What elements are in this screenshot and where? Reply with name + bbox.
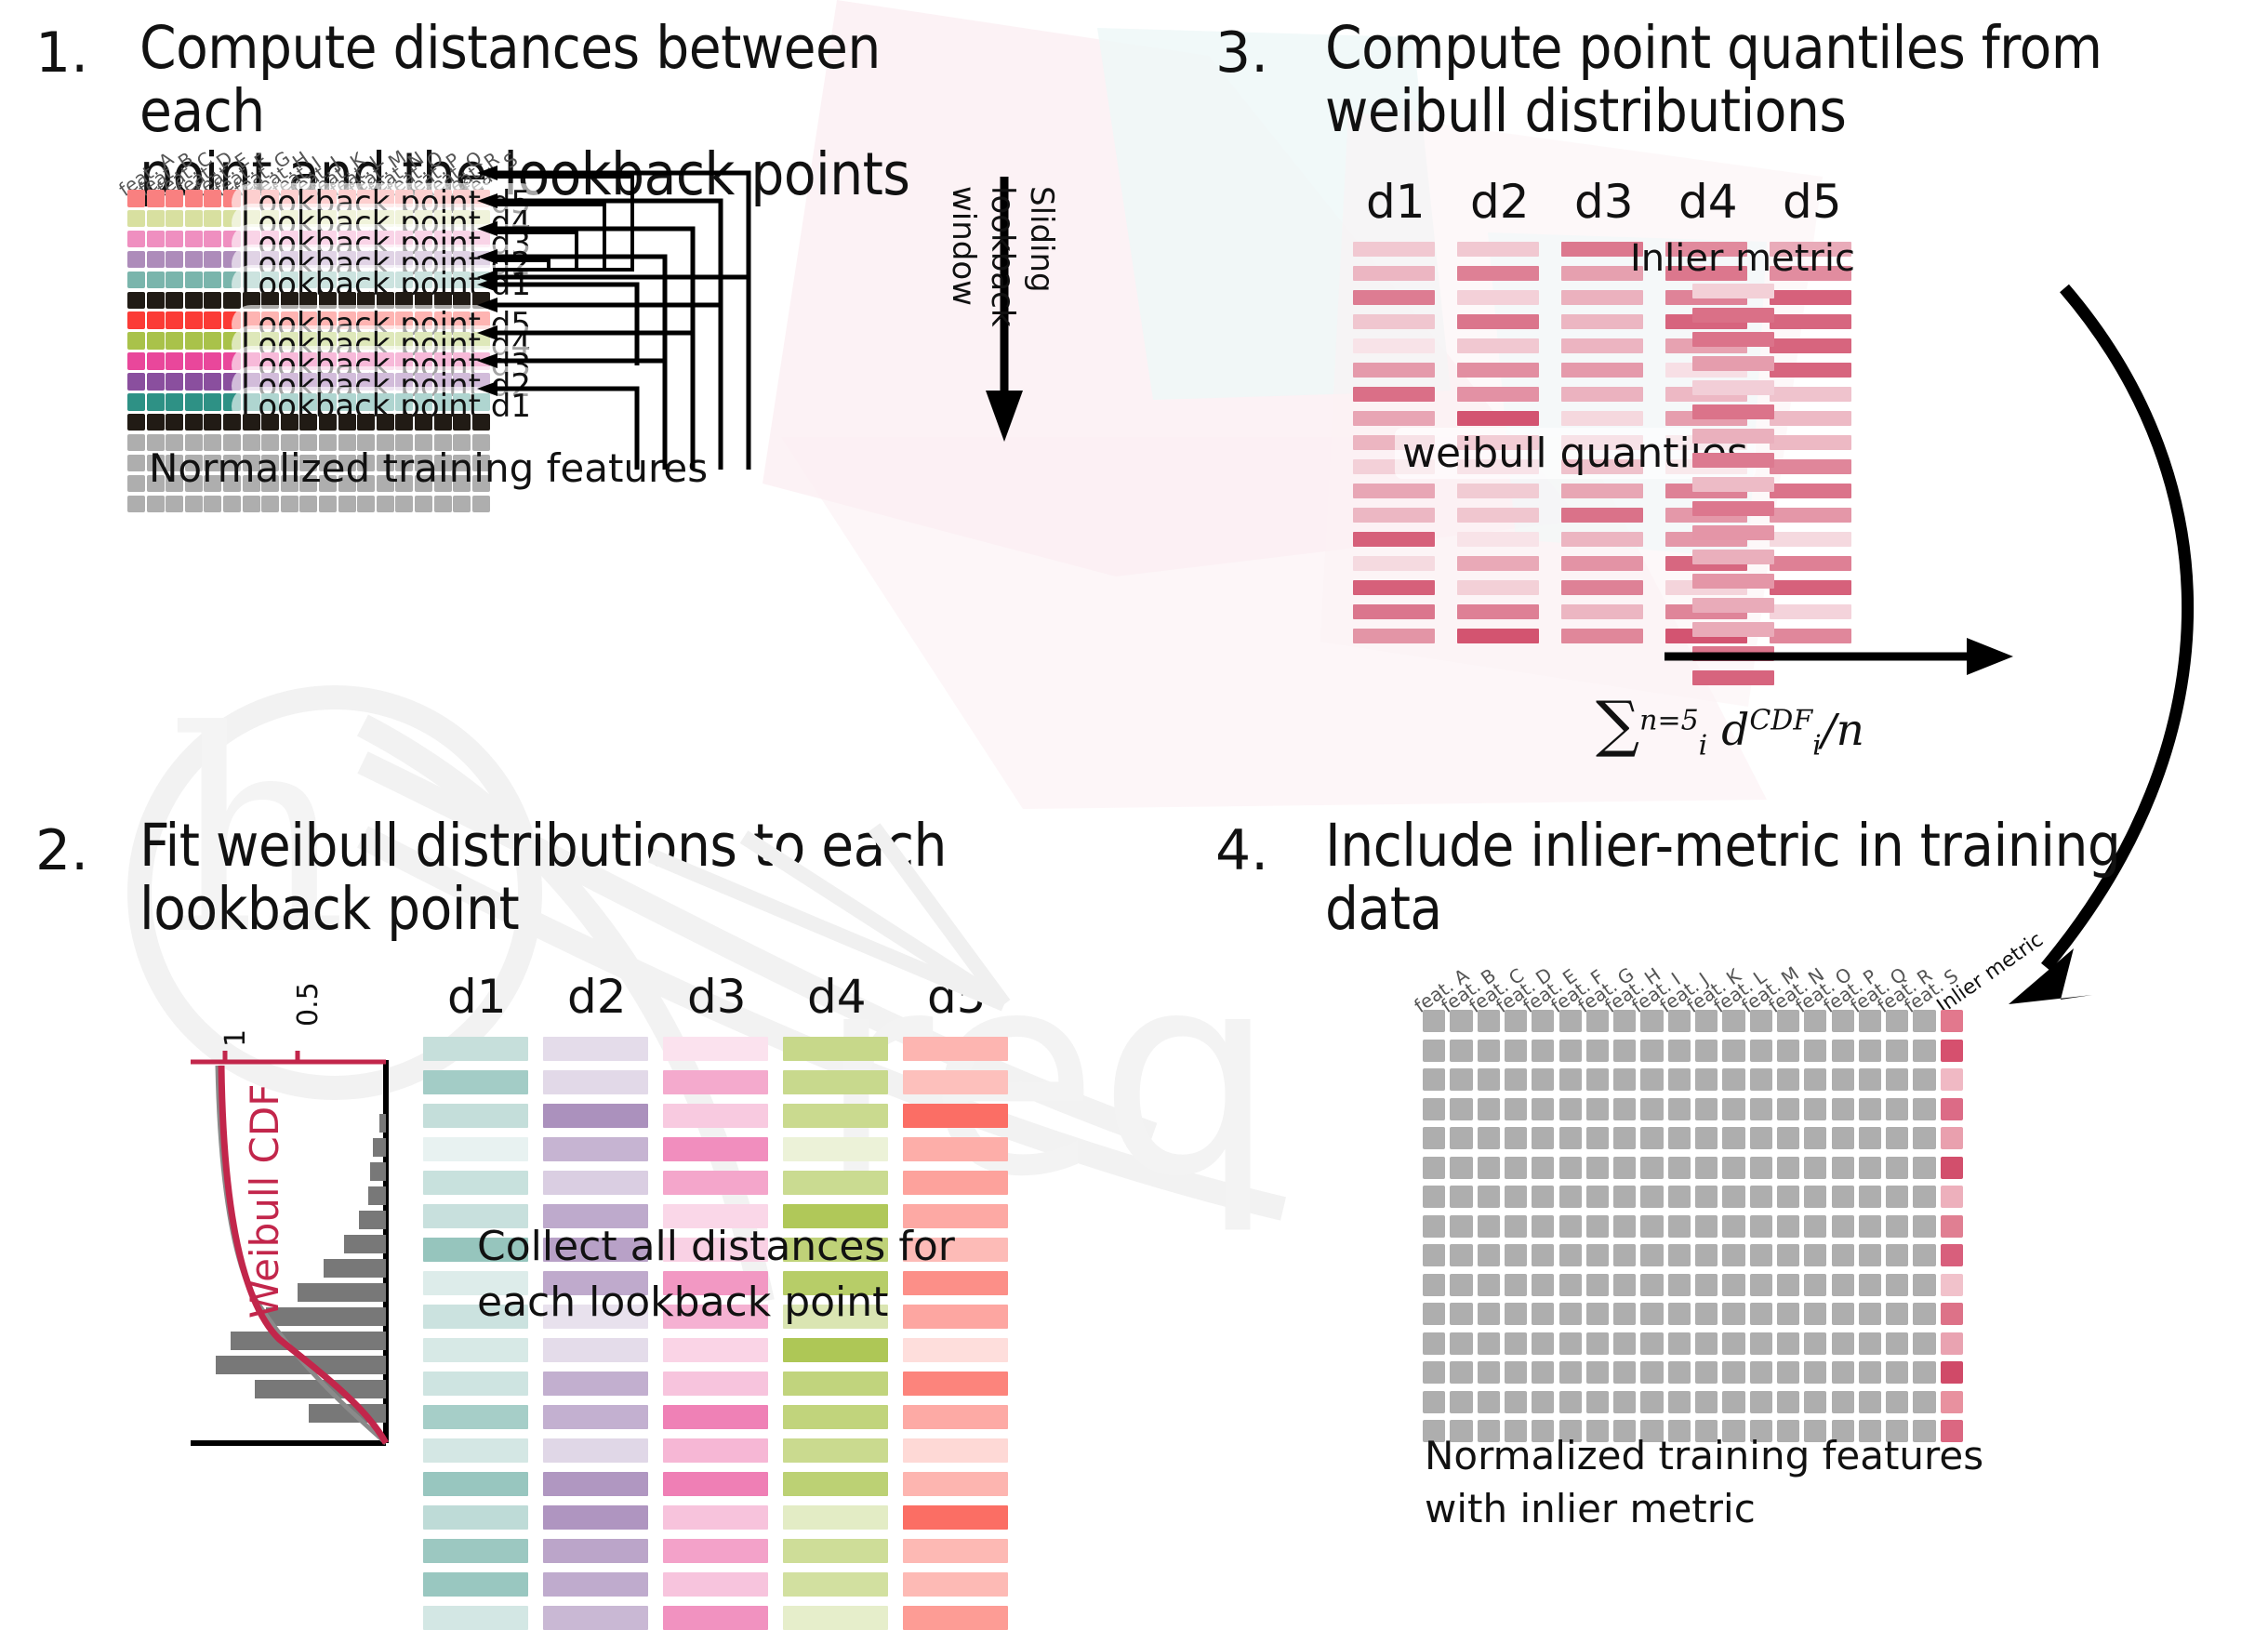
panel-3-quantile-bar <box>1561 604 1643 619</box>
panel-3-inlier-bar <box>1692 622 1774 637</box>
panel-4-feature-cell <box>1586 1215 1609 1238</box>
panel-4-feature-cell <box>1559 1361 1582 1384</box>
panel-1-feature-cell <box>204 393 221 411</box>
panel-1-feature-cell <box>261 496 279 513</box>
panel-1-feature-cell <box>127 251 145 269</box>
panel-4-feature-cell <box>1913 1040 1935 1062</box>
panel-4-feature-cell <box>1450 1127 1472 1149</box>
panel-2-distance-bar <box>903 1572 1008 1597</box>
panel-1-feature-cell <box>147 292 165 310</box>
panel-1-feature-cell <box>166 231 183 248</box>
panel-4-feature-cell <box>1913 1391 1935 1413</box>
panel-4-feature-cell <box>1913 1332 1935 1355</box>
panel-1-feature-cell <box>166 210 183 228</box>
panel-1-feature-cell <box>147 272 165 289</box>
panel-2-distance-bar <box>543 1405 648 1429</box>
panel-2-distance-bar <box>903 1070 1008 1094</box>
panel-4-feature-cell <box>1559 1303 1582 1325</box>
panel-4-feature-cell <box>1640 1361 1663 1384</box>
panel-1-feature-cell <box>223 414 241 431</box>
panel-2-distance-bar <box>423 1606 528 1630</box>
panel-2-distance-bar <box>543 1505 648 1530</box>
panel-4-feature-cell <box>1640 1068 1663 1091</box>
panel-2-distance-bar <box>903 1171 1008 1195</box>
panel-4-feature-cell <box>1478 1127 1500 1149</box>
panel-4-feature-cell <box>1832 1186 1854 1208</box>
panel-4-feature-cell <box>1859 1040 1881 1062</box>
panel-4-feature-cell <box>1804 1157 1826 1179</box>
panel-1-feature-cell <box>415 496 432 513</box>
panel-4-feature-cell <box>1804 1098 1826 1120</box>
panel-4-feature-cell <box>1478 1040 1500 1062</box>
panel-3-inlier-bar <box>1692 501 1774 516</box>
panel-4-inlier-cell <box>1941 1010 1963 1032</box>
panel-2-distance-bar <box>663 1372 768 1396</box>
panel-1-feature-cell <box>147 210 165 228</box>
panel-1-feature-cell <box>147 251 165 269</box>
panel-4-feature-cell <box>1613 1127 1636 1149</box>
panel-1-feature-cell <box>357 414 375 431</box>
panel-1-feature-cell <box>243 414 260 431</box>
panel-4-feature-cell <box>1832 1098 1854 1120</box>
panel-4-feature-cell <box>1613 1391 1636 1413</box>
panel-4-feature-cell <box>1913 1215 1935 1238</box>
panel-4-feature-cell <box>1722 1157 1744 1179</box>
panel-4-feature-cell <box>1450 1332 1472 1355</box>
panel-3-inlier-bar <box>1692 332 1774 347</box>
panel-1-feature-cell <box>281 414 298 431</box>
panel-2-distance-bar <box>783 1171 888 1195</box>
panel-1-feature-cell <box>166 373 183 391</box>
panel-1-feature-cell <box>166 190 183 207</box>
panel-4-inlier-cell <box>1941 1098 1963 1120</box>
step-3-title: Compute point quantiles from weibull dis… <box>1325 17 2255 143</box>
panel-4-feature-cell <box>1750 1157 1772 1179</box>
formula-sigma: ∑ <box>1596 688 1639 760</box>
panel-4-feature-cell <box>1640 1332 1663 1355</box>
panel-4-feature-cell <box>1832 1303 1854 1325</box>
panel-4-feature-cell <box>1450 1274 1472 1296</box>
panel-4-feature-cell <box>1478 1303 1500 1325</box>
panel-3-quantile-bar <box>1561 387 1643 402</box>
panel-4-feature-cell <box>1859 1127 1881 1149</box>
panel-4-feature-cell <box>1640 1127 1663 1149</box>
panel-4-feature-cell <box>1804 1127 1826 1149</box>
panel-4-feature-cell <box>1777 1303 1799 1325</box>
panel-4-feature-cell <box>1423 1274 1445 1296</box>
panel-4-feature-cell <box>1423 1332 1445 1355</box>
panel-3-inlier-bar <box>1692 477 1774 492</box>
panel-4-feature-cell <box>1478 1332 1500 1355</box>
panel-3-inlier-bar <box>1692 308 1774 323</box>
panel-4-feature-cell <box>1613 1068 1636 1091</box>
panel-1-feature-cell <box>204 414 221 431</box>
panel-4-feature-cell <box>1777 1391 1799 1413</box>
panel-4-inlier-cell <box>1941 1303 1963 1325</box>
panel-3-inlier-bar <box>1692 525 1774 540</box>
panel-1-feature-cell <box>185 272 203 289</box>
panel-4-feature-cell <box>1913 1361 1935 1384</box>
panel-4-feature-cell <box>1532 1040 1554 1062</box>
panel-4-feature-cell <box>1695 1098 1718 1120</box>
panel-4-feature-ticks: feat. Afeat. Bfeat. Cfeat. Dfeat. Efeat.… <box>1423 967 1962 1004</box>
panel-3-quantile-bar <box>1561 338 1643 353</box>
panel-1-feature-cell <box>434 496 452 513</box>
panel-2-distance-bar <box>903 1505 1008 1530</box>
panel-1-feature-cell <box>185 190 203 207</box>
panel-2-distance-bar <box>903 1271 1008 1295</box>
panel-4-feature-cell <box>1423 1010 1445 1032</box>
panel-4-feature-cell <box>1505 1361 1527 1384</box>
panel-4-feature-cell <box>1859 1361 1881 1384</box>
panel-1-feature-cell <box>204 352 221 370</box>
formula-lower: i <box>1699 729 1708 762</box>
panel-3-quantile-bar <box>1561 556 1643 571</box>
panel-4-feature-cell <box>1886 1332 1908 1355</box>
panel-3-inlier-bar <box>1692 404 1774 419</box>
panel-4-feature-cell <box>1450 1068 1472 1091</box>
panel-2-distance-bar <box>783 1505 888 1530</box>
panel-4-feature-cell <box>1859 1274 1881 1296</box>
panel-4-feature-cell <box>1532 1098 1554 1120</box>
panel-4-feature-cell <box>1832 1391 1854 1413</box>
panel-4-feature-cell <box>1886 1127 1908 1149</box>
panel-4-feature-cell <box>1859 1303 1881 1325</box>
panel-1-feature-cell <box>166 393 183 411</box>
panel-4-feature-cell <box>1832 1215 1854 1238</box>
panel-1-feature-cell <box>453 496 471 513</box>
panel-1-feature-cell <box>127 414 145 431</box>
panel-2-distance-bar <box>423 1438 528 1463</box>
panel-1-feature-cell <box>185 496 203 513</box>
panel-4-feature-cell <box>1505 1010 1527 1032</box>
panel-4-feature-cell <box>1668 1157 1691 1179</box>
panel-4-feature-cell <box>1478 1274 1500 1296</box>
panel-2-distance-bar <box>543 1372 648 1396</box>
panel-4-feature-cell <box>1859 1391 1881 1413</box>
panel-4-feature-cell <box>1640 1303 1663 1325</box>
panel-4-feature-cell <box>1886 1040 1908 1062</box>
panel-4-feature-cell <box>1505 1274 1527 1296</box>
panel-2-distance-bar <box>423 1472 528 1496</box>
panel-3-column-label-d3: d3 <box>1574 175 1634 229</box>
panel-4-feature-cell <box>1450 1157 1472 1179</box>
panel-1-feature-cell <box>166 311 183 329</box>
panel-4-feature-cell <box>1478 1068 1500 1091</box>
panel-4-feature-cell <box>1478 1361 1500 1384</box>
panel-4-feature-cell <box>1668 1391 1691 1413</box>
panel-2-distance-bar <box>543 1171 648 1195</box>
panel-1-feature-cell <box>395 414 413 431</box>
panel-2-distance-bar <box>543 1137 648 1161</box>
panel-4-feature-cell <box>1668 1040 1691 1062</box>
panel-3-column-label-d4: d4 <box>1678 175 1738 229</box>
panel-4-feature-cell <box>1640 1157 1663 1179</box>
panel-4-feature-cell <box>1804 1244 1826 1266</box>
panel-4-feature-cell <box>1640 1010 1663 1032</box>
panel-2-distance-bar <box>663 1104 768 1128</box>
panel-2-distance-bar <box>423 1505 528 1530</box>
panel-4-feature-cell <box>1695 1068 1718 1091</box>
panel-4-feature-cell <box>1695 1127 1718 1149</box>
panel-4-feature-cell <box>1722 1303 1744 1325</box>
panel-3-quantile-bar <box>1353 242 1435 257</box>
sliding-window-line-2: lookback <box>984 186 1021 327</box>
panel-3-inlier-bar <box>1692 284 1774 298</box>
panel-2-distance-bar <box>903 1338 1008 1362</box>
panel-4-feature-cell <box>1750 1215 1772 1238</box>
panel-4-feature-cell <box>1722 1098 1744 1120</box>
cdf-tick-05: 0.5 <box>292 982 325 1027</box>
panel-4-feature-cell <box>1695 1040 1718 1062</box>
panel-1-feature-cell <box>243 496 260 513</box>
panel-1-feature-cell <box>261 414 279 431</box>
panel-1-feature-cell <box>319 414 337 431</box>
panel-4-feature-cell <box>1586 1332 1609 1355</box>
panel-4-feature-cell <box>1886 1361 1908 1384</box>
panel-2-distance-bar <box>903 1104 1008 1128</box>
panel-3-inlier-bar <box>1692 429 1774 444</box>
panel-3-quantile-bar <box>1457 290 1539 305</box>
panel-4-feature-cell <box>1913 1186 1935 1208</box>
panel-4-feature-cell <box>1695 1186 1718 1208</box>
panel-4-feature-cell <box>1832 1127 1854 1149</box>
panel-4-feature-cell <box>1532 1244 1554 1266</box>
panel-4-feature-cell <box>1478 1098 1500 1120</box>
panel-3-inlier-bar <box>1692 550 1774 564</box>
panel-4-feature-cell <box>1586 1010 1609 1032</box>
panel-4-feature-cell <box>1804 1186 1826 1208</box>
panel-4-feature-cell <box>1886 1098 1908 1120</box>
panel-2-distance-bar <box>423 1372 528 1396</box>
panel-4-feature-cell <box>1695 1303 1718 1325</box>
panel-4-feature-cell <box>1777 1244 1799 1266</box>
panel-2-distance-bar <box>903 1137 1008 1161</box>
panel-1-feature-cell <box>185 311 203 329</box>
panel-1-feature-cell <box>204 231 221 248</box>
panel-4-feature-cell <box>1423 1186 1445 1208</box>
panel-1-feature-cell <box>127 231 145 248</box>
panel-1-feature-cell <box>223 292 241 310</box>
panel-2-distance-bar <box>663 1572 768 1597</box>
panel-4-feature-cell <box>1532 1068 1554 1091</box>
panel-2-distance-bar <box>903 1472 1008 1496</box>
panel-2-distance-bar <box>543 1539 648 1563</box>
panel-4-feature-cell <box>1695 1361 1718 1384</box>
panel-4-caption-line-2: with inlier metric <box>1425 1485 1756 1534</box>
panel-3-quantile-bar <box>1353 266 1435 281</box>
panel-1-feature-cell <box>166 292 183 310</box>
panel-4-feature-cell <box>1777 1332 1799 1355</box>
panel-4-feature-cell <box>1804 1068 1826 1091</box>
panel-1-feature-cell <box>377 496 394 513</box>
panel-4-feature-cell <box>1859 1098 1881 1120</box>
panel-4-feature-cell <box>1804 1215 1826 1238</box>
panel-4-feature-cell <box>1750 1186 1772 1208</box>
panel-3-quantile-bar <box>1457 314 1539 329</box>
panel-4-feature-cell <box>1804 1332 1826 1355</box>
panel-4-feature-cell <box>1832 1157 1854 1179</box>
panel-4-feature-cell <box>1750 1391 1772 1413</box>
panel-2-distance-bar <box>663 1539 768 1563</box>
panel-3-quantile-bar <box>1353 556 1435 571</box>
panel-2-distance-bar <box>663 1438 768 1463</box>
panel-4-feature-cell <box>1450 1186 1472 1208</box>
panel-4-feature-cell <box>1886 1303 1908 1325</box>
formula-term: d <box>1721 705 1749 756</box>
panel-4-feature-cell <box>1586 1391 1609 1413</box>
panel-4-feature-cell <box>1532 1215 1554 1238</box>
panel-4-feature-cell <box>1668 1010 1691 1032</box>
panel-2-distance-bar <box>903 1405 1008 1429</box>
panel-4-feature-cell <box>1423 1303 1445 1325</box>
panel-1-feature-cell <box>185 352 203 370</box>
panel-1-feature-cell <box>204 373 221 391</box>
panel-1-feature-cell <box>166 272 183 289</box>
panel-1-feature-cell <box>166 251 183 269</box>
panel-1-feature-cell <box>185 292 203 310</box>
panel-4-feature-cell <box>1478 1186 1500 1208</box>
panel-4-feature-cell <box>1886 1186 1908 1208</box>
panel-4-feature-cell <box>1722 1068 1744 1091</box>
panel-3-quantile-bar <box>1457 338 1539 353</box>
panel-4-feature-cell <box>1586 1244 1609 1266</box>
panel-2-distance-bar <box>423 1338 528 1362</box>
panel-4-feature-cell <box>1559 1157 1582 1179</box>
panel-4-feature-cell <box>1777 1098 1799 1120</box>
panel-4-feature-cell <box>1722 1127 1744 1149</box>
panel-4-feature-cell <box>1750 1332 1772 1355</box>
panel-4-feature-cell <box>1832 1332 1854 1355</box>
panel-4-feature-cell <box>1613 1186 1636 1208</box>
panel-4-feature-cell <box>1695 1332 1718 1355</box>
panel-4-feature-cell <box>1559 1068 1582 1091</box>
panel-1-feature-cell <box>147 190 165 207</box>
panel-2-distance-bar <box>783 1137 888 1161</box>
panel-4-feature-cell <box>1832 1244 1854 1266</box>
panel-4-feature-cell <box>1559 1098 1582 1120</box>
step-2-number: 2. <box>35 818 88 883</box>
panel-4-feature-cell <box>1777 1215 1799 1238</box>
panel-4-feature-cell <box>1750 1361 1772 1384</box>
panel-2-distance-bar <box>663 1505 768 1530</box>
panel-4-feature-cell <box>1559 1127 1582 1149</box>
panel-4-feature-cell <box>1695 1274 1718 1296</box>
panel-1-feature-cell <box>147 393 165 411</box>
panel-3-quantile-bar <box>1353 387 1435 402</box>
panel-1-feature-cell <box>147 496 165 513</box>
panel-4-feature-cell <box>1478 1244 1500 1266</box>
panel-4-feature-cell <box>1777 1068 1799 1091</box>
panel-1-feature-cell <box>395 496 413 513</box>
panel-3-column-label-d1: d1 <box>1366 175 1426 229</box>
panel-4-feature-cell <box>1722 1391 1744 1413</box>
panel-4-feature-cell <box>1886 1068 1908 1091</box>
panel-4-feature-cell <box>1913 1303 1935 1325</box>
panel-3-quantile-bar <box>1353 629 1435 643</box>
panel-2-distance-bar <box>783 1438 888 1463</box>
panel-4-feature-cell <box>1613 1010 1636 1032</box>
panel-4-inlier-cell <box>1941 1068 1963 1091</box>
panel-4-feature-cell <box>1913 1010 1935 1032</box>
panel-4-feature-cell <box>1722 1215 1744 1238</box>
panel-4-feature-cell <box>1586 1068 1609 1091</box>
panel-4-feature-cell <box>1586 1303 1609 1325</box>
panel-2-distance-bar <box>543 1572 648 1597</box>
panel-4-feature-cell <box>1532 1010 1554 1032</box>
panel-4-feature-cell <box>1859 1068 1881 1091</box>
panel-4-feature-cell <box>1559 1332 1582 1355</box>
panel-4-feature-cell <box>1532 1361 1554 1384</box>
panel-1-arrow-group-bottom <box>470 270 786 484</box>
panel-4-feature-cell <box>1804 1010 1826 1032</box>
panel-2-distance-bar <box>423 1070 528 1094</box>
panel-1-feature-cell <box>204 272 221 289</box>
panel-4-feature-cell <box>1559 1010 1582 1032</box>
panel-4-feature-cell <box>1640 1215 1663 1238</box>
panel-3-quantile-bar <box>1457 387 1539 402</box>
panel-4-feature-cell <box>1532 1157 1554 1179</box>
panel-2-distance-bar <box>663 1405 768 1429</box>
panel-3-quantile-bar <box>1353 580 1435 595</box>
panel-1-feature-cell <box>127 373 145 391</box>
panel-2-distance-bar <box>783 1104 888 1128</box>
weibull-cdf-curve-label: Weibull CDF <box>242 1084 287 1319</box>
panel-4-inlier-cell <box>1941 1127 1963 1149</box>
panel-1-feature-cell <box>204 332 221 350</box>
panel-3-inlier-bar <box>1692 356 1774 371</box>
panel-4-feature-cell <box>1640 1040 1663 1062</box>
panel-4-feature-cell <box>1450 1215 1472 1238</box>
panel-4-feature-cell <box>1450 1010 1472 1032</box>
panel-4-feature-cell <box>1750 1098 1772 1120</box>
panel-4-feature-cell <box>1859 1010 1881 1032</box>
sliding-window-line-3: window <box>945 186 982 306</box>
panel-1-feature-cell <box>147 332 165 350</box>
panel-1-feature-cell <box>127 292 145 310</box>
panel-4-feature-cell <box>1586 1157 1609 1179</box>
step-4-number: 4. <box>1215 818 1268 883</box>
panel-4-feature-cell <box>1913 1157 1935 1179</box>
panel-4-feature-cell <box>1505 1098 1527 1120</box>
panel-2-distance-bar <box>903 1372 1008 1396</box>
panel-2-distance-bar <box>783 1338 888 1362</box>
panel-3-quantile-bar <box>1353 604 1435 619</box>
panel-1-feature-cell <box>127 393 145 411</box>
panel-3-quantile-bar <box>1561 411 1643 426</box>
panel-2-distance-bar <box>903 1438 1008 1463</box>
panel-2-distance-bar <box>903 1305 1008 1329</box>
panel-3-quantile-bar <box>1353 363 1435 378</box>
panel-1-feature-cell <box>127 455 145 472</box>
panel-4-feature-cell <box>1777 1010 1799 1032</box>
panel-2-distance-bar <box>543 1104 648 1128</box>
panel-4-feature-cell <box>1777 1274 1799 1296</box>
panel-4-feature-cell <box>1640 1274 1663 1296</box>
panel-4-feature-cell <box>1559 1274 1582 1296</box>
panel-4-feature-cell <box>1423 1361 1445 1384</box>
panel-4-feature-cell <box>1640 1186 1663 1208</box>
panel-4-inlier-cell <box>1941 1361 1963 1384</box>
panel-1-feature-cell <box>204 496 221 513</box>
panel-4-feature-cell <box>1859 1332 1881 1355</box>
panel-4-feature-cell <box>1478 1391 1500 1413</box>
panel-1-feature-cell <box>377 414 394 431</box>
panel-4-feature-cell <box>1423 1040 1445 1062</box>
panel-4-feature-cell <box>1804 1361 1826 1384</box>
panel-1-feature-cell <box>147 414 165 431</box>
panel-2-distance-bar <box>783 1405 888 1429</box>
